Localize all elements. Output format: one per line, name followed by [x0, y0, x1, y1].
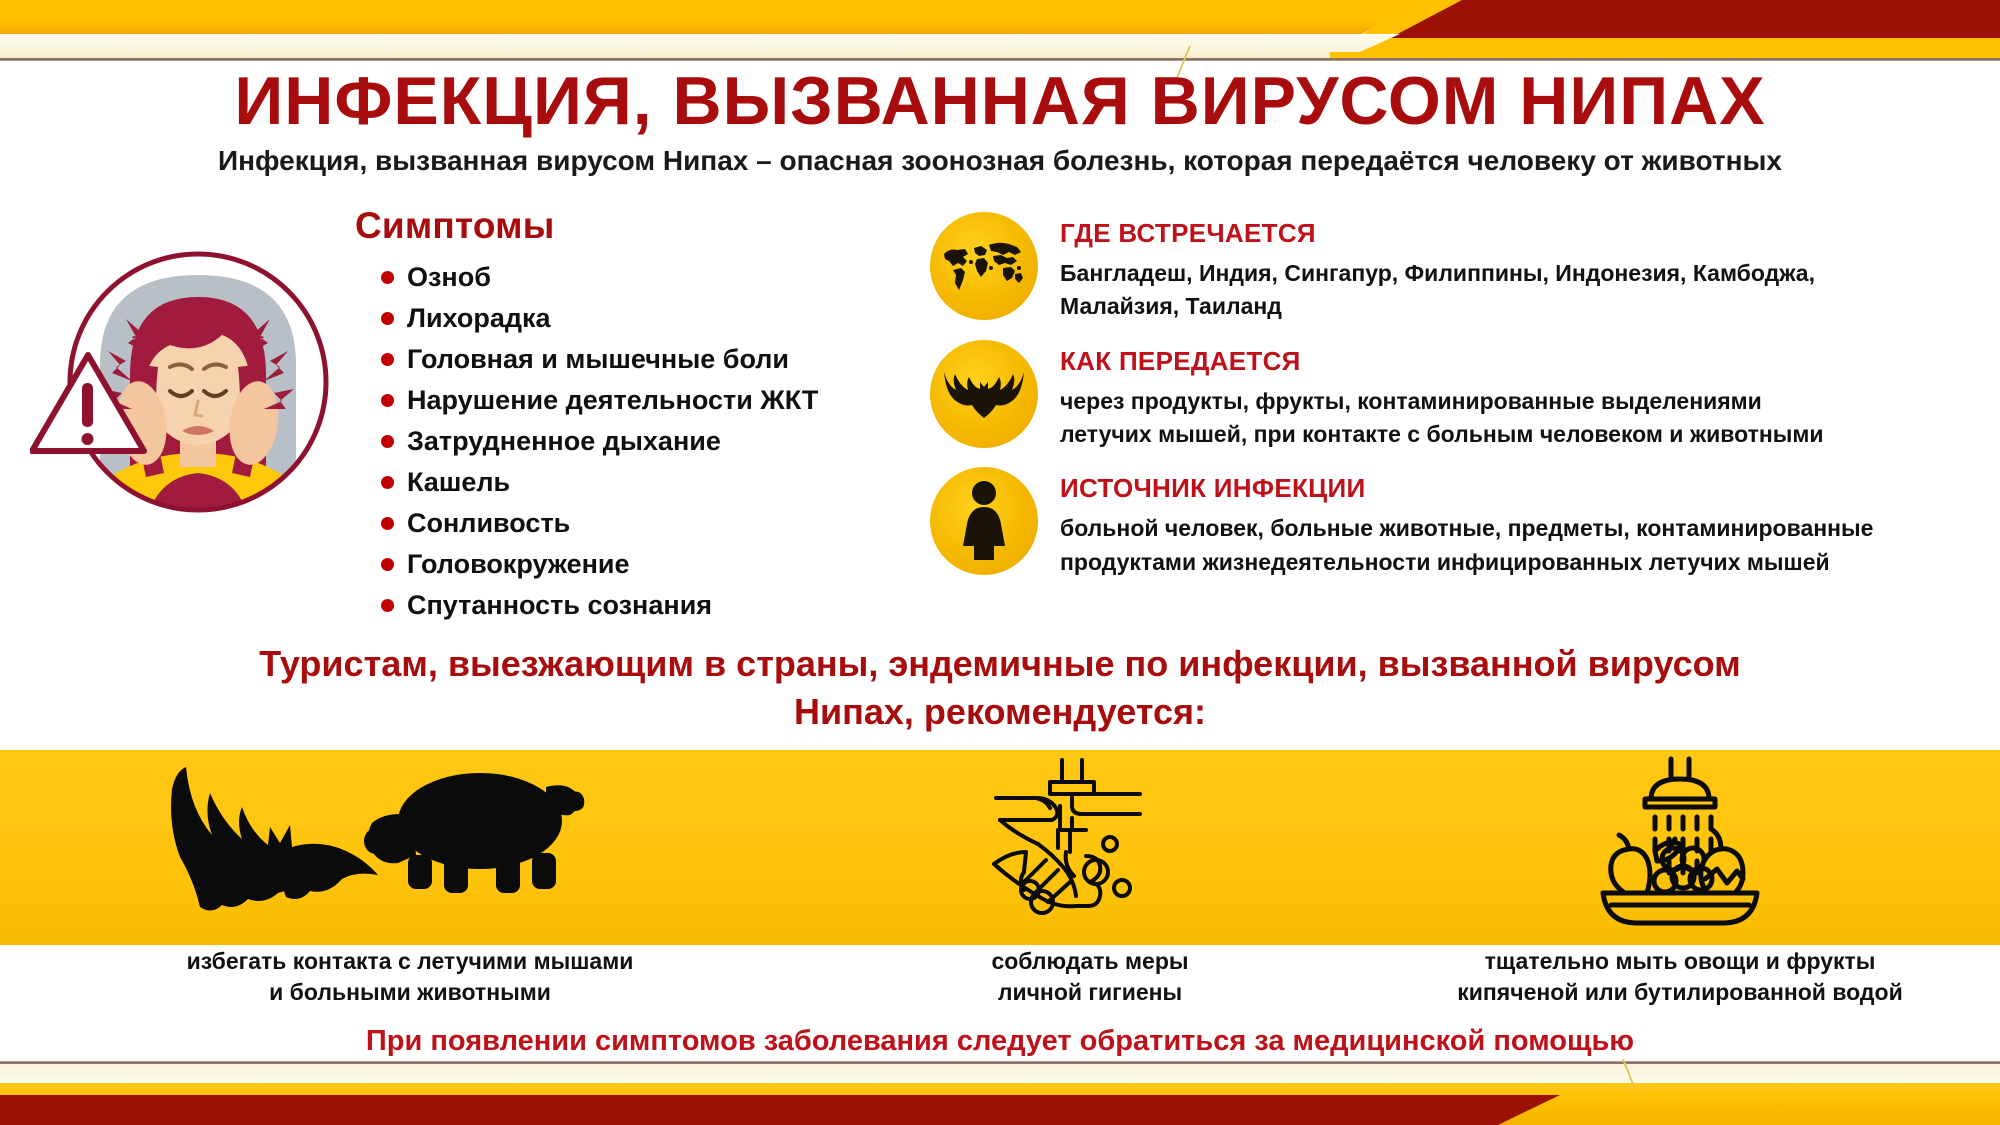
symptom-item: Затрудненное дыхание [355, 421, 895, 462]
symptom-item: Кашель [355, 462, 895, 503]
info-heading: ГДЕ ВСТРЕЧАЕТСЯ [1060, 218, 1815, 249]
symptom-item: Головная и мышечные боли [355, 339, 895, 380]
page-subtitle: Инфекция, вызванная вирусом Нипах – опас… [0, 145, 2000, 177]
symptom-label: Головная и мышечные боли [407, 346, 789, 373]
recommendation-avoid-contact: избегать контакта с летучими мышами и бо… [100, 750, 720, 1040]
recommendation-hygiene: соблюдать меры личной гигиены [880, 750, 1300, 1040]
symptom-label: Озноб [407, 264, 491, 291]
info-block-transmission: КАК ПЕРЕДАЕТСЯ через продукты, фрукты, к… [930, 340, 1990, 452]
bottom-dark-red-stripe [0, 1095, 1560, 1125]
recommendation-wash-produce: тщательно мыть овощи и фрукты кипяченой … [1400, 750, 1960, 1040]
symptom-item: Головокружение [355, 544, 895, 585]
symptom-label: Головокружение [407, 551, 630, 578]
info-text-where: ГДЕ ВСТРЕЧАЕТСЯ Бангладеш, Индия, Сингап… [1060, 212, 1815, 324]
info-text-source: ИСТОЧНИК ИНФЕКЦИИ больной человек, больн… [1060, 467, 1873, 579]
bat-icon [930, 340, 1038, 448]
headache-woman-illustration [30, 215, 340, 535]
info-line-1: больной человек, больные животные, предм… [1060, 512, 1873, 545]
tourist-recommendation-heading: Туристам, выезжающим в страны, эндемичны… [60, 640, 1940, 735]
world-map-icon [930, 212, 1038, 320]
symptom-label: Нарушение деятельности ЖКТ [407, 387, 818, 414]
info-line-2: летучих мышей, при контакте с больным че… [1060, 418, 1824, 451]
recommendation-caption: избегать контакта с летучими мышами и бо… [100, 946, 720, 1008]
bullet-icon [381, 271, 394, 284]
info-block-where: ГДЕ ВСТРЕЧАЕТСЯ Бангладеш, Индия, Сингап… [930, 212, 1990, 324]
caption-line-1: тщательно мыть овощи и фрукты [1400, 946, 1960, 977]
washing-produce-glyph [1585, 755, 1775, 933]
bat-glyph [942, 368, 1026, 420]
caption-line-2: кипяченой или бутилированной водой [1400, 977, 1960, 1008]
info-blocks-section: ГДЕ ВСТРЕЧАЕТСЯ Бангладеш, Индия, Сингап… [930, 212, 1990, 595]
bat-and-pig-icon [100, 750, 720, 930]
symptom-item: Лихорадка [355, 298, 895, 339]
symptom-label: Сонливость [407, 510, 570, 537]
poster-root: ИНФЕКЦИЯ, ВЫЗВАННАЯ ВИРУСОМ НИПАХ Инфекц… [0, 0, 2000, 1125]
top-decorative-banner [0, 0, 2000, 46]
tourist-heading-line-1: Туристам, выезжающим в страны, эндемичны… [60, 640, 1940, 688]
symptoms-section: Симптомы Озноб Лихорадка Головная и мыше… [355, 205, 895, 626]
bullet-icon [381, 435, 394, 448]
symptom-label: Затрудненное дыхание [407, 428, 721, 455]
banner-hairline-rule [0, 58, 2000, 61]
symptom-item: Озноб [355, 257, 895, 298]
symptom-item: Сонливость [355, 503, 895, 544]
caption-line-2: и больными животными [100, 977, 720, 1008]
info-heading: ИСТОЧНИК ИНФЕКЦИИ [1060, 473, 1873, 504]
bullet-icon [381, 312, 394, 325]
symptom-item: Спутанность сознания [355, 585, 895, 626]
bullet-icon [381, 476, 394, 489]
tourist-heading-line-2: Нипах, рекомендуется: [60, 688, 1940, 736]
symptoms-list: Озноб Лихорадка Головная и мышечные боли… [355, 257, 895, 626]
info-line-2: продуктами жизнедеятельности инфицирован… [1060, 546, 1873, 579]
recommendation-caption: соблюдать меры личной гигиены [880, 946, 1300, 1008]
bullet-icon [381, 353, 394, 366]
info-text-transmission: КАК ПЕРЕДАЕТСЯ через продукты, фрукты, к… [1060, 340, 1824, 452]
caption-line-1: избегать контакта с летучими мышами [100, 946, 720, 977]
bullet-icon [381, 394, 394, 407]
info-heading: КАК ПЕРЕДАЕТСЯ [1060, 346, 1824, 377]
caption-line-1: соблюдать меры [880, 946, 1300, 977]
symptom-label: Кашель [407, 469, 510, 496]
handwashing-icon [880, 750, 1300, 930]
world-map-glyph [941, 238, 1027, 294]
headache-woman-icon [30, 215, 340, 535]
bottom-decorative-banner [0, 1047, 2000, 1125]
handwashing-glyph [990, 756, 1190, 932]
symptom-item: Нарушение деятельности ЖКТ [355, 380, 895, 421]
page-title: ИНФЕКЦИЯ, ВЫЗВАННАЯ ВИРУСОМ НИПАХ [0, 62, 2000, 140]
recommendation-caption: тщательно мыть овощи и фрукты кипяченой … [1400, 946, 1960, 1008]
bullet-icon [381, 599, 394, 612]
bullet-icon [381, 517, 394, 530]
symptom-label: Лихорадка [407, 305, 551, 332]
bullet-icon [381, 558, 394, 571]
banner-yellow-stripe [0, 0, 1420, 34]
info-line-2: Малайзия, Таиланд [1060, 290, 1815, 323]
bat-and-pig-glyph [150, 759, 670, 929]
symptoms-heading: Симптомы [355, 205, 895, 247]
washing-produce-icon [1400, 750, 1960, 930]
symptom-label: Спутанность сознания [407, 592, 712, 619]
info-block-source: ИСТОЧНИК ИНФЕКЦИИ больной человек, больн… [930, 467, 1990, 579]
banner-dark-red-stripe [1390, 0, 2000, 38]
info-line-1: через продукты, фрукты, контаминированны… [1060, 385, 1824, 418]
info-line-1: Бангладеш, Индия, Сингапур, Филиппины, И… [1060, 257, 1815, 290]
person-icon [930, 467, 1038, 575]
person-glyph [956, 480, 1012, 562]
caption-line-2: личной гигиены [880, 977, 1300, 1008]
